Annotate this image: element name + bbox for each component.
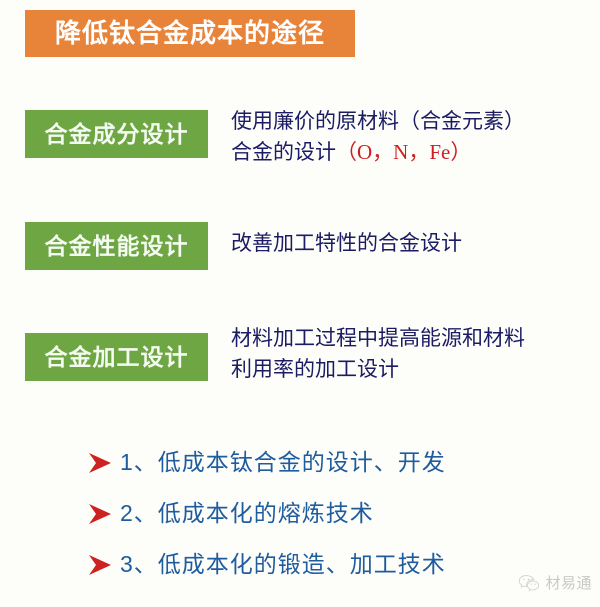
list-item-label: 1、低成本钛合金的设计、开发 (120, 451, 446, 474)
watermark-label: 材易通 (545, 572, 592, 593)
bullet-list: 1、低成本钛合金的设计、开发 2、低成本化的熔炼技术 3、低成本化的锻造、加工技… (0, 437, 600, 590)
list-item: 2、低成本化的熔炼技术 (0, 488, 600, 539)
row-description-1: 使用廉价的原材料（合金元素） 合金的设计（O，N，Fe） (231, 106, 596, 168)
row-label-box-2: 合金性能设计 (25, 222, 208, 270)
arrow-bullet-icon (88, 503, 112, 525)
row-label-3: 合金加工设计 (45, 346, 189, 369)
arrow-bullet-icon (88, 452, 112, 474)
list-item: 3、低成本化的锻造、加工技术 (0, 539, 600, 590)
list-item: 1、低成本钛合金的设计、开发 (0, 437, 600, 488)
row-label-box-1: 合金成分设计 (25, 110, 208, 158)
row-description-3: 材料加工过程中提高能源和材料 利用率的加工设计 (231, 323, 596, 385)
page-title: 降低钛合金成本的途径 (55, 21, 325, 47)
row-label-box-3: 合金加工设计 (25, 333, 208, 381)
row-description-line: 使用廉价的原材料（合金元素） (231, 106, 596, 137)
slide-canvas: 降低钛合金成本的途径 合金成分设计 使用廉价的原材料（合金元素） 合金的设计（O… (0, 0, 600, 607)
row-description-line: 材料加工过程中提高能源和材料 (231, 323, 596, 354)
slide-title-banner: 降低钛合金成本的途径 (25, 10, 355, 57)
list-item-label: 3、低成本化的锻造、加工技术 (120, 553, 446, 576)
row-description-2: 改善加工特性的合金设计 (231, 228, 596, 259)
watermark: 材易通 (518, 572, 592, 593)
row-description-accent: （O，N，Fe） (336, 140, 471, 164)
row-description-line: 合金的设计（O，N，Fe） (231, 137, 596, 168)
list-item-label: 2、低成本化的熔炼技术 (120, 502, 374, 525)
wechat-icon (518, 573, 540, 592)
row-description-line: 利用率的加工设计 (231, 354, 596, 385)
row-description-text: 合金的设计 (231, 141, 336, 164)
arrow-bullet-icon (88, 554, 112, 576)
row-label-2: 合金性能设计 (45, 235, 189, 258)
row-description-line: 改善加工特性的合金设计 (231, 228, 596, 259)
row-label-1: 合金成分设计 (45, 123, 189, 146)
